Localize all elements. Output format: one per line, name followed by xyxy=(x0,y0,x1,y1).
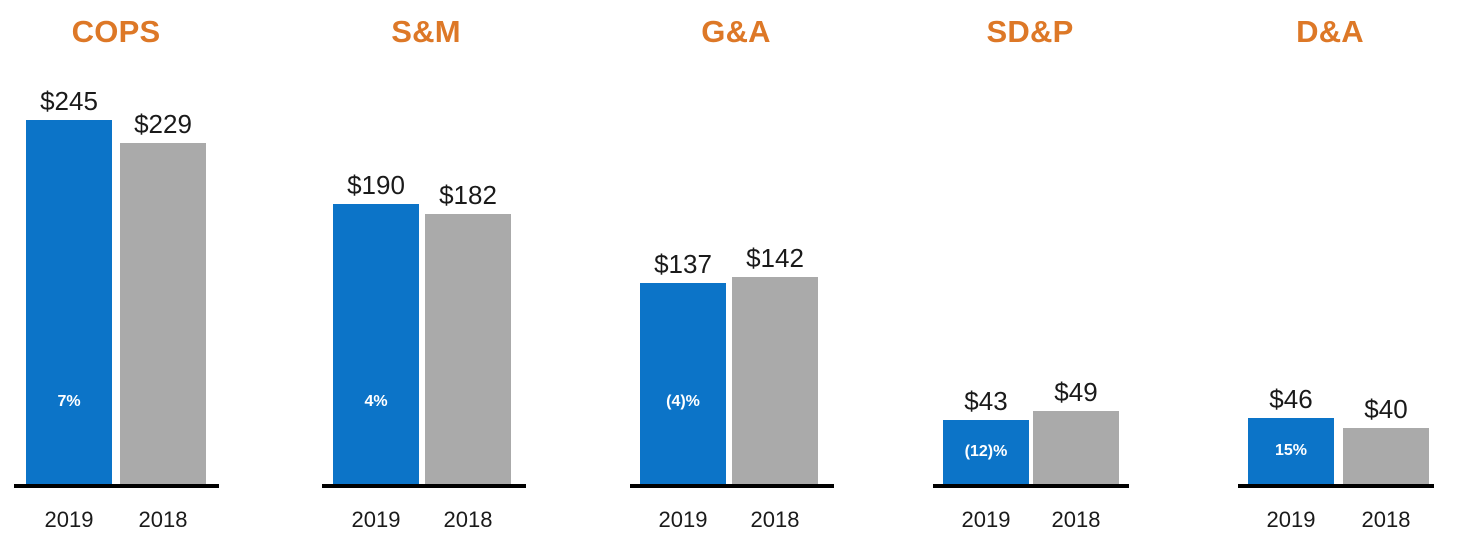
year-label-2019: 2019 xyxy=(1236,507,1346,533)
bar-group-g-a: G&A$137(4)%2019$1422018 xyxy=(620,0,852,547)
expense-comparison-bar-chart: COPS$2457%2019$2292018S&M$1904%2019$1822… xyxy=(0,0,1458,547)
group-title: S&M xyxy=(310,14,542,50)
bar-group-d-a: D&A$4615%2019$402018 xyxy=(1225,0,1435,547)
year-label-2018: 2018 xyxy=(413,507,523,533)
bar-value-label: $182 xyxy=(411,180,525,210)
group-title: SD&P xyxy=(925,14,1135,50)
axis-baseline xyxy=(933,484,1129,488)
bar-group-s-m: S&M$1904%2019$1822018 xyxy=(310,0,542,547)
axis-baseline xyxy=(322,484,526,488)
bar-2019[interactable] xyxy=(333,204,419,484)
bar-2018[interactable] xyxy=(1033,411,1119,484)
year-label-2018: 2018 xyxy=(108,507,218,533)
bar-growth-label: 15% xyxy=(1248,441,1334,461)
bar-2018[interactable] xyxy=(120,143,206,484)
bar-2018[interactable] xyxy=(732,277,818,484)
axis-baseline xyxy=(630,484,834,488)
bar-group-cops: COPS$2457%2019$2292018 xyxy=(0,0,232,547)
bar-2019[interactable] xyxy=(26,120,112,484)
axis-baseline xyxy=(1238,484,1434,488)
bar-value-label: $229 xyxy=(106,109,220,139)
bar-value-label: $49 xyxy=(1019,377,1133,407)
year-label-2018: 2018 xyxy=(1021,507,1131,533)
bar-value-label: $40 xyxy=(1329,394,1443,424)
bar-growth-label: 4% xyxy=(333,392,419,412)
bar-growth-label: (12)% xyxy=(943,442,1029,462)
bar-group-sd-p: SD&P$43(12)%2019$492018 xyxy=(925,0,1135,547)
year-label-2018: 2018 xyxy=(1331,507,1441,533)
bar-growth-label: (4)% xyxy=(640,392,726,412)
year-label-2018: 2018 xyxy=(720,507,830,533)
bar-growth-label: 7% xyxy=(26,392,112,412)
group-title: D&A xyxy=(1225,14,1435,50)
bar-2018[interactable] xyxy=(425,214,511,484)
bar-value-label: $142 xyxy=(718,243,832,273)
bar-2019[interactable] xyxy=(640,283,726,484)
axis-baseline xyxy=(14,484,219,488)
group-title: G&A xyxy=(620,14,852,50)
bar-2018[interactable] xyxy=(1343,428,1429,484)
group-title: COPS xyxy=(0,14,232,50)
